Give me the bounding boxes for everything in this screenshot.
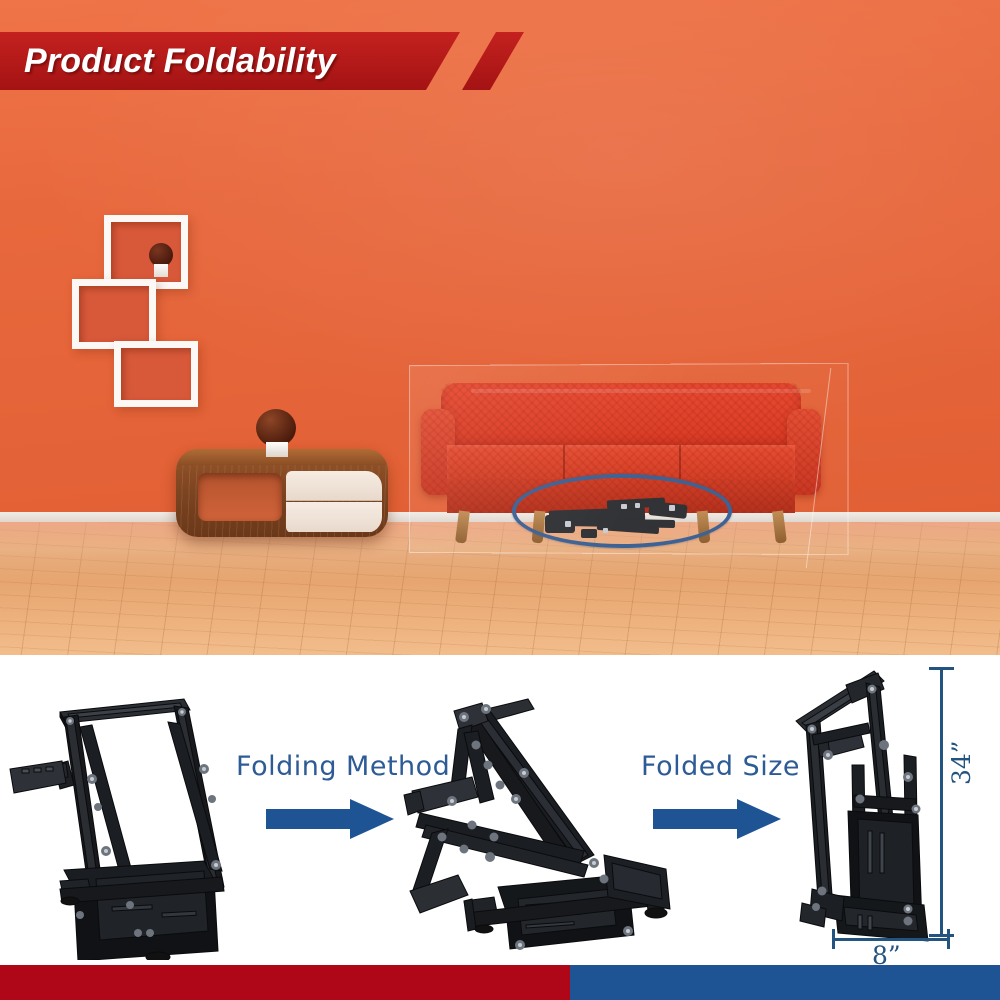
stand-unfolded	[8, 665, 258, 960]
bottom-bar-blue-segment	[570, 965, 1000, 1000]
shelf-cubby-middle	[72, 279, 156, 349]
width-dimension-cap-right	[947, 929, 950, 949]
arrow-folding-method	[266, 798, 396, 840]
height-dimension-line	[940, 667, 943, 937]
console-table	[176, 449, 388, 537]
wall-shelf	[72, 215, 200, 395]
banner-accent-stripe	[462, 32, 524, 90]
height-dimension-cap-bottom	[929, 934, 954, 937]
height-dimension-cap-top	[929, 667, 954, 670]
console-plant	[254, 409, 298, 455]
foldability-diagram: Folding Method	[0, 655, 1000, 965]
arrow-folded-size	[653, 798, 783, 840]
page-title: Product Foldability	[24, 38, 336, 84]
stand-midfold	[398, 673, 688, 963]
glass-panel-overlay	[409, 363, 848, 555]
room-scene	[0, 0, 1000, 655]
shelf-cubby-bottom	[114, 341, 198, 407]
label-folded-size: Folded Size	[641, 751, 800, 782]
stand-folded	[782, 659, 942, 955]
shelf-cubby-top	[104, 215, 188, 289]
console-open-shelf	[198, 473, 282, 521]
bottom-color-bar	[0, 965, 1000, 1000]
shelf-plant	[148, 243, 174, 277]
bottom-bar-red-segment	[0, 965, 572, 1000]
console-drawers	[286, 471, 382, 533]
title-banner: Product Foldability	[0, 32, 520, 90]
product-foldability-infographic: Product Foldability	[0, 0, 1000, 1000]
height-dimension-label: 34”	[947, 740, 976, 785]
width-dimension-cap-left	[832, 929, 835, 949]
